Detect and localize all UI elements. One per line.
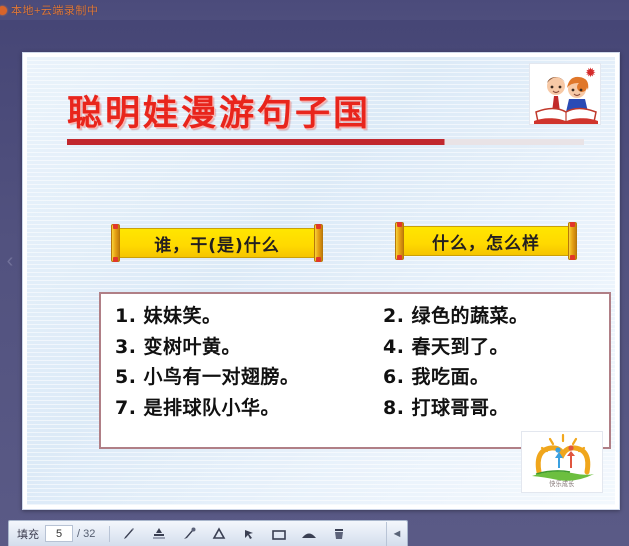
- recording-status-bar: 本地+云端录制中: [0, 0, 629, 20]
- highlighter-tool-icon[interactable]: [144, 523, 174, 545]
- scroll-roll-left-icon: [111, 224, 120, 262]
- sentence-item: 3. 变树叶黄。: [115, 334, 383, 362]
- sentence-item: 6. 我吃面。: [383, 364, 490, 392]
- recording-status-text: 本地+云端录制中: [11, 2, 98, 18]
- category-banner-what-is-how: 什么，怎么样: [395, 226, 577, 256]
- sentence-list-box: 1. 妹妹笑。 2. 绿色的蔬菜。 3. 变树叶黄。 4. 春天到了。 5. 小…: [99, 292, 611, 449]
- brush-tool-icon[interactable]: [174, 523, 204, 545]
- rectangle-tool-icon[interactable]: [264, 523, 294, 545]
- toolbar-divider: [109, 526, 110, 542]
- sentence-item: 2. 绿色的蔬菜。: [383, 303, 529, 331]
- sentence-item: 4. 春天到了。: [383, 334, 509, 362]
- category-banner-who-does-what: 谁，干(是)什么: [111, 228, 323, 258]
- clear-tool-icon[interactable]: [324, 523, 354, 545]
- table-row: 3. 变树叶黄。 4. 春天到了。: [115, 334, 599, 362]
- page-number-input[interactable]: 5: [45, 525, 73, 542]
- previous-slide-arrow-icon[interactable]: ‹: [2, 248, 18, 274]
- sentence-item: 7. 是排球队小华。: [115, 395, 383, 423]
- slide-background: 聪明娃漫游句子国 谁，干(是)什么 什么，怎么样: [27, 57, 615, 505]
- scroll-roll-left-icon: [395, 222, 404, 260]
- school-logo: 快乐成长: [521, 431, 603, 493]
- sentence-item: 1. 妹妹笑。: [115, 303, 383, 331]
- slide-canvas[interactable]: 聪明娃漫游句子国 谁，干(是)什么 什么，怎么样: [22, 52, 620, 510]
- children-reading-clipart-icon: ✹: [529, 63, 601, 125]
- logo-caption: 快乐成长: [522, 479, 602, 489]
- presentation-window: 本地+云端录制中 ‹ 聪明娃漫游句子国 谁，干(是)什么 什么，怎么样: [0, 0, 629, 546]
- pen-tool-icon[interactable]: [114, 523, 144, 545]
- table-row: 1. 妹妹笑。 2. 绿色的蔬菜。: [115, 303, 599, 331]
- fill-label: 填充: [9, 526, 45, 542]
- banner-label: 谁，干(是)什么: [154, 231, 280, 256]
- slide-title-block: 聪明娃漫游句子国: [67, 97, 587, 145]
- annotation-toolbar[interactable]: 填充 5 / 32 ◄: [8, 520, 408, 546]
- page-total-label: / 32: [77, 528, 95, 540]
- banner-label: 什么，怎么样: [432, 229, 540, 254]
- scroll-roll-right-icon: [568, 222, 577, 260]
- curve-tool-icon[interactable]: [294, 523, 324, 545]
- recording-indicator-icon: [0, 6, 7, 15]
- sentence-item: 5. 小鸟有一对翅膀。: [115, 364, 383, 392]
- table-row: 5. 小鸟有一对翅膀。 6. 我吃面。: [115, 364, 599, 392]
- banner-body: 谁，干(是)什么: [120, 228, 314, 258]
- page-indicator[interactable]: 5 / 32: [45, 525, 105, 542]
- collapse-toolbar-icon[interactable]: ◄: [386, 522, 407, 546]
- pointer-tool-icon[interactable]: [234, 523, 264, 545]
- title-underline: [67, 139, 584, 145]
- eraser-tool-icon[interactable]: [204, 523, 234, 545]
- red-star-icon: ✹: [585, 66, 596, 79]
- scroll-roll-right-icon: [314, 224, 323, 262]
- sentence-item: 8. 打球哥哥。: [383, 395, 509, 423]
- banner-body: 什么，怎么样: [404, 226, 568, 256]
- page-title: 聪明娃漫游句子国: [67, 97, 587, 132]
- sentence-rows: 1. 妹妹笑。 2. 绿色的蔬菜。 3. 变树叶黄。 4. 春天到了。 5. 小…: [115, 303, 599, 422]
- table-row: 7. 是排球队小华。 8. 打球哥哥。: [115, 395, 599, 423]
